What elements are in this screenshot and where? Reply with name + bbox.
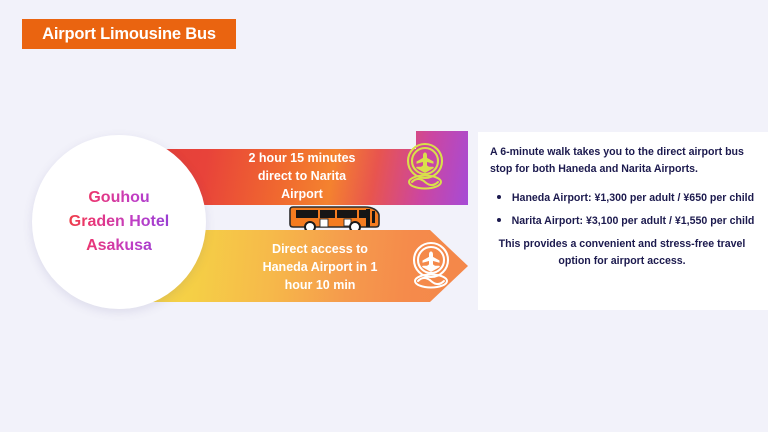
hotel-name-line1: Gouhou <box>69 186 169 210</box>
arrow-haneda-label: Direct access to Haneda Airport in 1 hou… <box>234 240 406 294</box>
arrow-haneda-label-line1: Direct access to <box>234 240 406 258</box>
page-title: Airport Limousine Bus <box>42 26 216 43</box>
arrow-narita-label-line3: Airport <box>222 185 382 203</box>
airplane-location-pin-icon <box>404 240 458 297</box>
arrow-narita-label: 2 hour 15 minutes direct to Narita Airpo… <box>222 149 382 203</box>
arrow-narita-label-line2: direct to Narita <box>222 167 382 185</box>
info-panel: A 6-minute walk takes you to the direct … <box>478 132 768 310</box>
hotel-name: Gouhou Graden Hotel Asakusa <box>59 186 179 258</box>
arrow-haneda-label-line3: hour 10 min <box>234 276 406 294</box>
bullet-icon <box>497 218 501 222</box>
slide-canvas: Airport Limousine Bus 2 hour 15 minutes … <box>0 0 768 432</box>
orange-city-bus-icon <box>289 203 381 233</box>
bullet-icon <box>497 195 501 199</box>
fare-haneda-text: Haneda Airport: ¥1,300 per adult / ¥650 … <box>512 192 754 204</box>
hotel-name-line2: Graden Hotel <box>69 210 169 234</box>
fare-narita-text: Narita Airport: ¥3,100 per adult / ¥1,55… <box>512 215 755 227</box>
fare-list-item: Narita Airport: ¥3,100 per adult / ¥1,55… <box>510 213 760 230</box>
fare-list-item: Haneda Airport: ¥1,300 per adult / ¥650 … <box>510 190 760 207</box>
info-panel-closing: This provides a convenient and stress-fr… <box>490 236 760 270</box>
airplane-location-pin-icon <box>398 141 452 198</box>
title-banner: Airport Limousine Bus <box>22 19 236 49</box>
arrow-haneda-label-line2: Haneda Airport in 1 <box>234 258 406 276</box>
info-panel-intro: A 6-minute walk takes you to the direct … <box>490 144 760 178</box>
fare-list: Haneda Airport: ¥1,300 per adult / ¥650 … <box>490 190 760 230</box>
arrow-narita-label-line1: 2 hour 15 minutes <box>222 149 382 167</box>
hotel-circle: Gouhou Graden Hotel Asakusa <box>32 135 206 309</box>
hotel-name-line3: Asakusa <box>69 234 169 258</box>
